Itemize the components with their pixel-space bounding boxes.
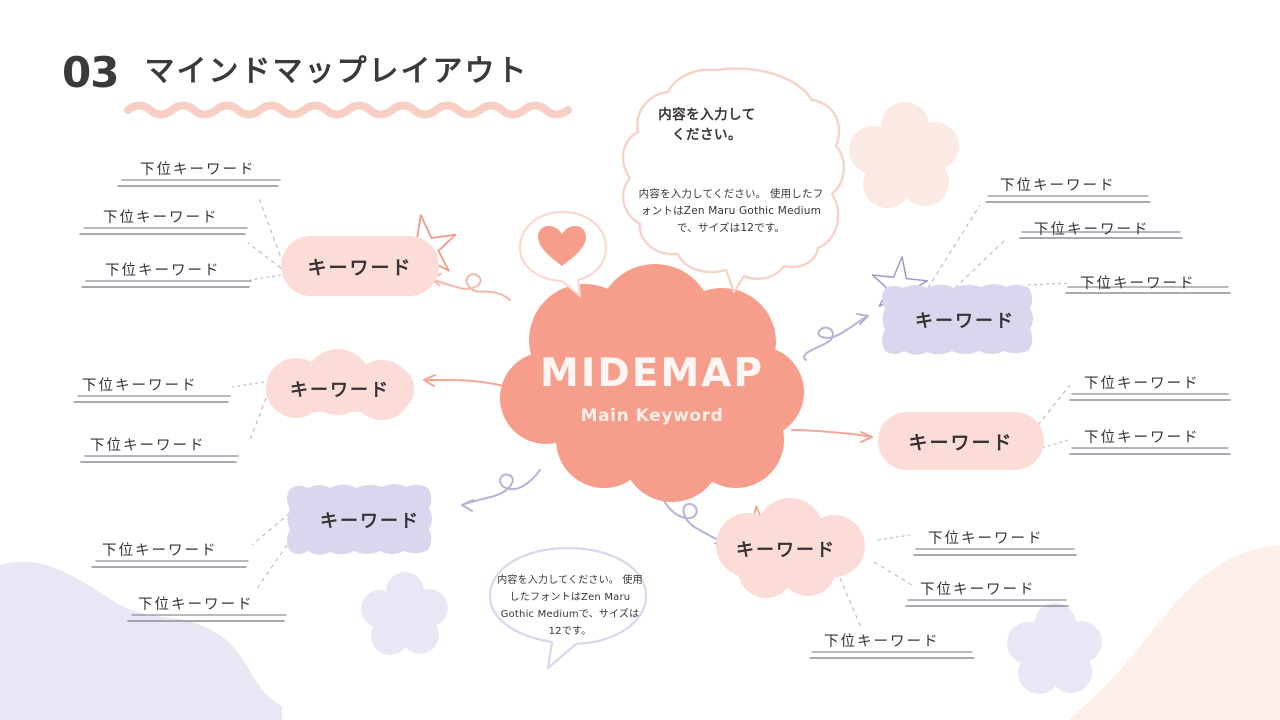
subkeyword-mid-left-1[interactable]: 下位キーワード — [82, 374, 198, 395]
heart-icon — [538, 226, 586, 266]
flower-lavender-bottom — [361, 572, 448, 655]
callout-top-heading: 内容を入力して ください。 — [648, 105, 766, 146]
subkeyword-mid-left-2[interactable]: 下位キーワード — [90, 434, 206, 455]
subkeyword-mid-right-2[interactable]: 下位キーワード — [1084, 426, 1200, 447]
subkeyword-top-right-1[interactable]: 下位キーワード — [1000, 174, 1116, 195]
node-top-right[interactable]: キーワード — [884, 289, 1046, 351]
page-title: マインドマップレイアウト — [144, 52, 528, 88]
node-top-left-label: キーワード — [307, 253, 412, 280]
flower-pink-top-right — [849, 102, 959, 208]
center-node-subtitle: Main Keyword — [581, 406, 724, 426]
subkeyword-bottom-left-2[interactable]: 下位キーワード — [138, 593, 254, 614]
arrow-to-bottom-right — [660, 490, 726, 552]
callout-heart-bubble[interactable] — [520, 212, 606, 296]
node-mid-right[interactable]: キーワード — [878, 412, 1044, 470]
slide-title-block: 03 マインドマップレイアウト — [62, 52, 528, 94]
slide-number: 03 — [62, 52, 118, 94]
node-bottom-right[interactable]: キーワード — [722, 524, 850, 574]
arrow-to-top-left — [430, 274, 510, 300]
arrow-to-top-right — [804, 314, 868, 360]
arrow-to-mid-left — [424, 375, 512, 388]
blob-pink-bottom-right-shape — [1068, 545, 1280, 720]
callout-top-heading-line2: ください。 — [648, 125, 766, 145]
subkeyword-bottom-right-1[interactable]: 下位キーワード — [928, 527, 1044, 548]
center-node[interactable]: MIDEMAP Main Keyword — [506, 292, 798, 488]
callout-top-body: 内容を入力してください。 使用したフォントはZen Maru Gothic Me… — [638, 186, 824, 237]
flower-lavender-bottom-right — [1007, 603, 1102, 694]
subkeyword-top-left-2[interactable]: 下位キーワード — [103, 206, 219, 227]
node-bottom-right-label: キーワード — [736, 536, 836, 562]
callout-top-bubble-outline[interactable] — [623, 69, 844, 292]
node-mid-left-label: キーワード — [290, 376, 390, 402]
node-top-left[interactable]: キーワード — [281, 236, 439, 296]
subkeyword-bottom-right-2[interactable]: 下位キーワード — [920, 578, 1036, 599]
subkeyword-top-right-2[interactable]: 下位キーワード — [1034, 218, 1150, 239]
subkeyword-top-left-1[interactable]: 下位キーワード — [140, 158, 256, 179]
blob-lavender-bottom-left-shape — [0, 562, 282, 720]
subkeyword-mid-right-1[interactable]: 下位キーワード — [1084, 372, 1200, 393]
center-node-title: MIDEMAP — [540, 354, 764, 393]
wave-line-shape — [128, 106, 568, 115]
callout-top-heading-line1: 内容を入力して — [648, 105, 766, 125]
callout-bottom-body: 内容を入力してください。 使用したフォントはZen Maru Gothic Me… — [495, 572, 645, 640]
node-mid-left[interactable]: キーワード — [266, 366, 414, 412]
subkeyword-bottom-left-1[interactable]: 下位キーワード — [102, 539, 218, 560]
node-mid-right-label: キーワード — [908, 428, 1013, 455]
node-bottom-left[interactable]: キーワード — [290, 489, 450, 551]
subkeyword-top-right-3[interactable]: 下位キーワード — [1080, 272, 1196, 293]
node-top-right-label: キーワード — [915, 307, 1015, 333]
subkeyword-top-left-3[interactable]: 下位キーワード — [105, 259, 221, 280]
slide-canvas: 03 マインドマップレイアウト — [0, 0, 1280, 720]
arrow-to-mid-right — [792, 430, 872, 442]
subkeyword-bottom-right-3[interactable]: 下位キーワード — [824, 630, 940, 651]
node-bottom-left-label: キーワード — [320, 507, 420, 533]
